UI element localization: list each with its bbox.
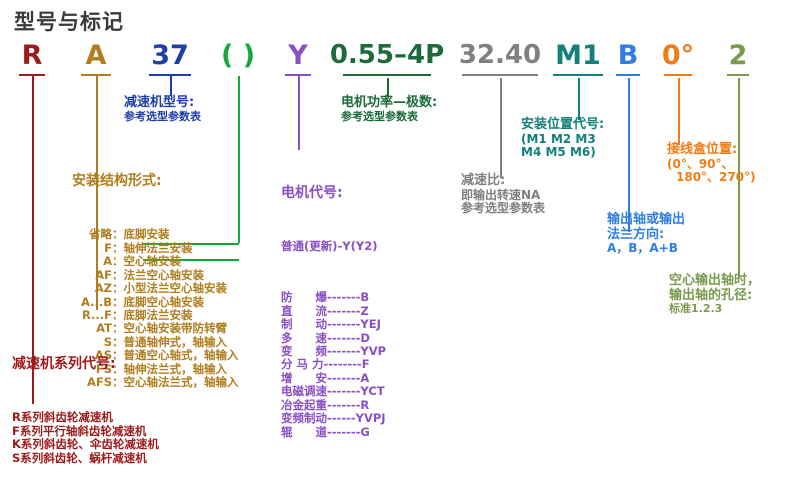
- motor-row-dots-7: -------: [327, 384, 360, 398]
- mounting-row-key-0: 省略: [72, 228, 112, 241]
- label-output-shaft-direction: 输出轴或输出 法兰方向: A，B，A+B: [607, 213, 685, 256]
- label-gearbox-size: 减速机型号: 参考选型参数表: [124, 96, 201, 123]
- model-designation-diagram: 型号与标记 RA37( )Y0.55–4P32.40M1B0°2 减速机型号: …: [0, 0, 800, 402]
- series-row-1: F系列平行轴斜齿轮减速机: [12, 425, 159, 438]
- motor-row-dots-2: -------: [327, 317, 360, 331]
- label-reduction-ratio-line1: 即输出转速NA: [461, 189, 545, 202]
- motor-row-name-6: 增 安: [281, 371, 327, 385]
- motor-row-dots-9: ------: [327, 411, 356, 425]
- list-mounting-structure-heading: 安装结构形式:: [72, 173, 239, 189]
- code-underline-6: [462, 74, 538, 76]
- label-hollow-shaft-line1: 空心输出轴时，: [669, 274, 760, 289]
- label-terminal-box-heading: 接线盒位置:: [667, 143, 756, 158]
- label-gearbox-size-sub: 参考选型参数表: [124, 111, 201, 123]
- code-underline-5: [343, 74, 431, 76]
- leader-line-9: [678, 78, 680, 145]
- label-mounting-position-heading: 安装位置代号:: [521, 118, 604, 133]
- motor-row-dots-6: -------: [327, 371, 360, 385]
- leader-line-4: [298, 76, 300, 150]
- motor-row-code-3: D: [360, 331, 370, 345]
- motor-row-dots-0: -------: [327, 290, 360, 304]
- mounting-row-value-5: ：底脚空心轴安装: [112, 295, 204, 309]
- label-mounting-position-line1: (M1 M2 M3: [521, 133, 604, 146]
- code-underline-9: [664, 74, 692, 76]
- leader-line-5: [387, 78, 389, 96]
- label-mounting-position-line2: M4 M5 M6): [521, 146, 604, 159]
- label-gearbox-size-heading: 减速机型号:: [124, 96, 201, 111]
- label-motor-power: 电机功率—极数: 参考选型参数表: [341, 96, 437, 123]
- list-motor-code: 电机代号: 普通(更新)-Y(Y2) 防 爆-------B直 流-------…: [281, 148, 386, 477]
- series-row-0: R系列斜齿轮减速机: [12, 411, 159, 424]
- leader-line-2: [170, 76, 172, 96]
- label-reduction-ratio-heading: 减速比:: [461, 174, 545, 189]
- mounting-row-key-1: F: [72, 242, 112, 255]
- label-hollow-shaft-bore: 空心输出轴时， 输出轴的孔径: 标准1.2.3: [669, 274, 760, 315]
- mounting-row-value-3: ：法兰空心轴安装: [112, 268, 204, 282]
- motor-row-code-5: F: [362, 357, 370, 371]
- motor-row-dots-5: --------: [324, 357, 362, 371]
- motor-row-code-6: A: [360, 371, 369, 385]
- motor-row-code-9: YVPJ: [356, 411, 386, 425]
- label-mounting-position: 安装位置代号: (M1 M2 M3 M4 M5 M6): [521, 118, 604, 159]
- motor-row-code-10: G: [360, 425, 369, 439]
- motor-row-name-0: 防 爆: [281, 290, 327, 304]
- motor-row-dots-3: -------: [327, 331, 360, 345]
- mounting-row-key-5: A...B: [72, 296, 112, 309]
- mounting-row-value-0: ：底脚安装: [112, 227, 170, 241]
- list-gearbox-series-heading: 减速机系列代号:: [12, 356, 159, 372]
- code-token-5: 0.55–4P: [327, 42, 447, 68]
- motor-row-9: 变频制动------YVPJ: [281, 412, 386, 425]
- motor-row-name-5: 分 马 力: [281, 357, 324, 371]
- label-output-shaft-line1: 输出轴或输出: [607, 213, 685, 228]
- motor-row-name-10: 辊 道: [281, 425, 327, 439]
- motor-row-name-2: 制 动: [281, 317, 327, 331]
- code-underline-7: [553, 74, 603, 76]
- motor-row-code-1: Z: [360, 304, 368, 318]
- motor-row-name-4: 变 频: [281, 344, 327, 358]
- mounting-row-2: A：空心轴安装: [72, 255, 239, 268]
- motor-row-6: 增 安-------A: [281, 372, 386, 385]
- motor-row-dots-4: -------: [327, 344, 360, 358]
- list-motor-code-first-row: 普通(更新)-Y(Y2): [281, 240, 386, 253]
- motor-row-name-3: 多 速: [281, 331, 327, 345]
- motor-row-1: 直 流-------Z: [281, 305, 386, 318]
- motor-row-8: 冶金起重-------R: [281, 399, 386, 412]
- label-output-shaft-line3: A，B，A+B: [607, 242, 685, 255]
- label-motor-power-sub: 参考选型参数表: [341, 111, 437, 123]
- mounting-row-value-1: ：轴伸法兰安装: [112, 241, 193, 255]
- mounting-row-key-3: AF: [72, 269, 112, 282]
- series-row-2: K系列斜齿轮、伞齿轮减速机: [12, 438, 159, 451]
- motor-row-code-2: YEJ: [360, 317, 380, 331]
- label-reduction-ratio: 减速比: 即输出转速NA 参考选型参数表: [461, 174, 545, 215]
- motor-row-code-8: R: [360, 398, 369, 412]
- motor-row-0: 防 爆-------B: [281, 291, 386, 304]
- motor-row-name-8: 冶金起重: [281, 398, 327, 412]
- leader-line-6: [500, 78, 502, 178]
- motor-row-name-1: 直 流: [281, 304, 327, 318]
- motor-row-10: 辊 道-------G: [281, 426, 386, 439]
- motor-row-5: 分 马 力--------F: [281, 358, 386, 371]
- leader-line-8: [628, 78, 630, 232]
- leader-line-7: [578, 78, 580, 120]
- label-hollow-shaft-sub: 标准1.2.3: [669, 303, 760, 315]
- motor-row-dots-8: -------: [327, 398, 360, 412]
- motor-row-name-7: 电磁调速: [281, 384, 327, 398]
- motor-row-code-7: YCT: [360, 384, 384, 398]
- mounting-row-3: AF：法兰空心轴安装: [72, 269, 239, 282]
- motor-row-dots-1: -------: [327, 304, 360, 318]
- code-underline-8: [616, 74, 640, 76]
- label-motor-power-heading: 电机功率—极数:: [341, 96, 437, 111]
- code-token-10: 2: [678, 42, 798, 69]
- list-gearbox-series-rows: R系列斜齿轮减速机F系列平行轴斜齿轮减速机K系列斜齿轮、伞齿轮减速机S系列斜齿轮…: [12, 411, 159, 465]
- series-row-3: S系列斜齿轮、蜗杆减速机: [12, 452, 159, 465]
- mounting-row-value-2: ：空心轴安装: [112, 254, 181, 268]
- label-terminal-box-line2: 180°、270°): [667, 171, 756, 184]
- label-terminal-box-line1: (0°、90°、: [667, 158, 756, 171]
- label-terminal-box-position: 接线盒位置: (0°、90°、 180°、270°): [667, 143, 756, 184]
- list-motor-code-heading: 电机代号:: [281, 185, 386, 201]
- label-hollow-shaft-line2: 输出轴的孔径:: [669, 289, 760, 304]
- mounting-row-4: AZ：小型法兰空心轴安装: [72, 282, 239, 295]
- label-output-shaft-line2: 法兰方向:: [607, 228, 685, 243]
- code-underline-10: [727, 74, 749, 76]
- motor-row-3: 多 速-------D: [281, 332, 386, 345]
- mounting-row-key-4: AZ: [72, 282, 112, 295]
- page-title: 型号与标记: [14, 6, 124, 36]
- mounting-row-key-2: A: [72, 255, 112, 268]
- motor-row-name-9: 变频制动: [281, 411, 327, 425]
- motor-row-4: 变 频-------YVP: [281, 345, 386, 358]
- motor-row-2: 制 动-------YEJ: [281, 318, 386, 331]
- list-gearbox-series: 减速机系列代号: R系列斜齿轮减速机F系列平行轴斜齿轮减速机K系列斜齿轮、伞齿轮…: [12, 319, 159, 503]
- motor-row-code-4: YVP: [360, 344, 386, 358]
- mounting-row-value-4: ：小型法兰空心轴安装: [112, 281, 227, 295]
- label-reduction-ratio-line2: 参考选型参数表: [461, 202, 545, 215]
- list-motor-code-rows: 防 爆-------B直 流-------Z制 动-------YEJ多 速--…: [281, 291, 386, 439]
- mounting-row-5: A...B：底脚空心轴安装: [72, 296, 239, 309]
- motor-row-dots-10: -------: [327, 425, 360, 439]
- mounting-row-1: F：轴伸法兰安装: [72, 242, 239, 255]
- mounting-row-0: 省略：底脚安装: [72, 228, 239, 241]
- motor-row-7: 电磁调速-------YCT: [281, 385, 386, 398]
- motor-row-code-0: B: [360, 290, 369, 304]
